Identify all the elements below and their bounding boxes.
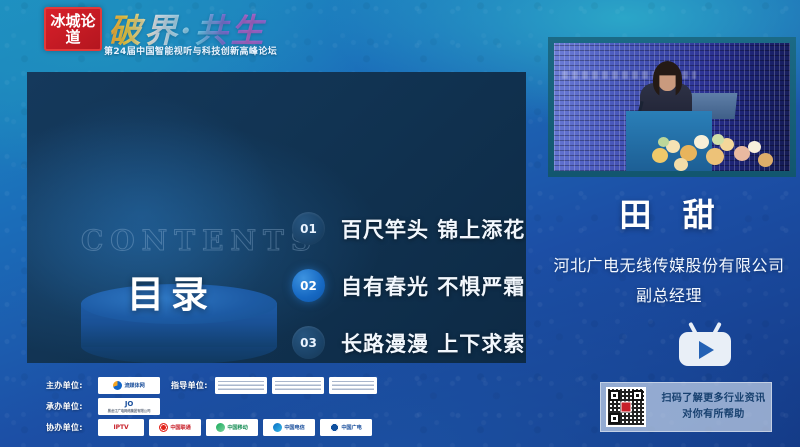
china-unicom-mark-icon [159, 423, 168, 432]
slide-title: 目录 [127, 264, 215, 318]
toc-item-label: 长路漫漫 上下求索 [341, 328, 525, 358]
sponsor-logo-guidance-3 [329, 377, 377, 394]
contents-watermark: CONTENTS [81, 224, 318, 257]
broadcast-screen: 冰城论道 破界·共生 第24届中国智能视听与科技创新高峰论坛 CONTENTS … [0, 0, 800, 447]
sponsor-logo-host: JO 黑龙江广电网络集团有限公司 [98, 398, 160, 415]
video-frame [554, 43, 790, 171]
play-triangle-icon [699, 341, 714, 359]
sponsor-row-host: 承办单位: JO 黑龙江广电网络集团有限公司 [46, 398, 516, 415]
logo-placeholder-lines [275, 381, 321, 390]
flower-arrangement [650, 115, 782, 171]
sponsor-logo-label: IPTV [114, 424, 129, 431]
qr-caption-line-2: 对你有所帮助 [656, 407, 771, 423]
speaker-organization: 河北广电无线传媒股份有限公司 [534, 252, 800, 276]
qr-finder-top-right [632, 390, 643, 401]
logo-placeholder-lines [332, 381, 374, 390]
sponsor-logo-label: 流媒体网 [124, 382, 144, 389]
sponsor-row-organizer: 主办单位: 流媒体网 指导单位: [46, 377, 516, 394]
toc-item-label: 百尺竿头 锦上添花 [341, 214, 525, 244]
sponsor-logo-label: 中国广电 [341, 424, 361, 431]
conference-seal-logo: 冰城论道 [44, 7, 102, 51]
sponsor-row-label: 承办单位: [46, 401, 98, 412]
china-broadnet-mark-icon [330, 423, 339, 432]
sponsor-logo-china-unicom: 中国联通 [149, 419, 201, 436]
sponsor-row-cohost: 协办单位: IPTV 中国联通 中国移动 中国电信 中国广电 [46, 419, 516, 436]
qr-finder-top-left [609, 390, 620, 401]
sponsor-logo-lmtw: 流媒体网 [98, 377, 160, 394]
qr-caption-line-1: 扫码了解更多行业资讯 [656, 391, 771, 407]
sponsor-logo-china-broadnet: 中国广电 [320, 419, 372, 436]
china-mobile-mark-icon [216, 423, 225, 432]
speaker-video-feed [548, 37, 796, 177]
sponsor-logo-guidance-1 [215, 377, 267, 394]
toc-number-badge: 01 [292, 212, 325, 245]
sponsor-logo-label: 中国移动 [227, 424, 247, 431]
qr-center-logo [621, 402, 632, 413]
presentation-slide: CONTENTS 目录 01 百尺竿头 锦上添花 02 自有春光 不惧严霜 03… [27, 72, 526, 363]
table-of-contents: 01 百尺竿头 锦上添花 02 自有春光 不惧严霜 03 长路漫漫 上下求索 [292, 200, 522, 363]
sponsor-bar: 主办单位: 流媒体网 指导单位: 承办单位: JO 黑龙江广电网络集团有限公司 [46, 377, 516, 440]
china-telecom-mark-icon [273, 423, 282, 432]
sponsor-row-label-guidance: 指导单位: [171, 380, 215, 391]
event-subtitle: 第24届中国智能视听与科技创新高峰论坛 [104, 44, 277, 57]
toc-item-label: 自有春光 不惧严霜 [341, 271, 525, 301]
speaker-job-title: 副总经理 [534, 282, 800, 306]
tv-play-icon [679, 322, 731, 366]
qr-promo-block[interactable]: 扫码了解更多行业资讯 对你有所帮助 [600, 382, 772, 432]
toc-item: 02 自有春光 不惧严霜 [292, 257, 522, 314]
qr-finder-bottom-left [609, 413, 620, 424]
sponsor-logo-label: JO [125, 400, 133, 408]
toc-item: 01 百尺竿头 锦上添花 [292, 200, 522, 257]
sponsor-logo-iptv: IPTV [98, 419, 144, 436]
toc-item: 03 长路漫漫 上下求索 [292, 314, 522, 363]
sponsor-logo-china-telecom: 中国电信 [263, 419, 315, 436]
lmtw-mark-icon [113, 381, 122, 390]
sponsor-logo-china-mobile: 中国移动 [206, 419, 258, 436]
sponsor-row-label: 协办单位: [46, 422, 98, 433]
speaker-name: 田 甜 [548, 190, 796, 236]
sponsor-logo-label: 中国联通 [170, 424, 190, 431]
sponsor-logo-label: 中国电信 [284, 424, 304, 431]
sponsor-row-label: 主办单位: [46, 380, 98, 391]
logo-placeholder-lines [218, 381, 264, 390]
sponsor-logo-guidance-2 [272, 377, 324, 394]
qr-code-image [606, 387, 646, 427]
sponsor-logo-sublabel: 黑龙江广电网络集团有限公司 [108, 408, 151, 413]
qr-caption: 扫码了解更多行业资讯 对你有所帮助 [656, 391, 771, 423]
toc-number-badge: 03 [292, 326, 325, 359]
seal-logo-text: 冰城论道 [50, 13, 96, 46]
toc-number-badge: 02 [292, 269, 325, 302]
